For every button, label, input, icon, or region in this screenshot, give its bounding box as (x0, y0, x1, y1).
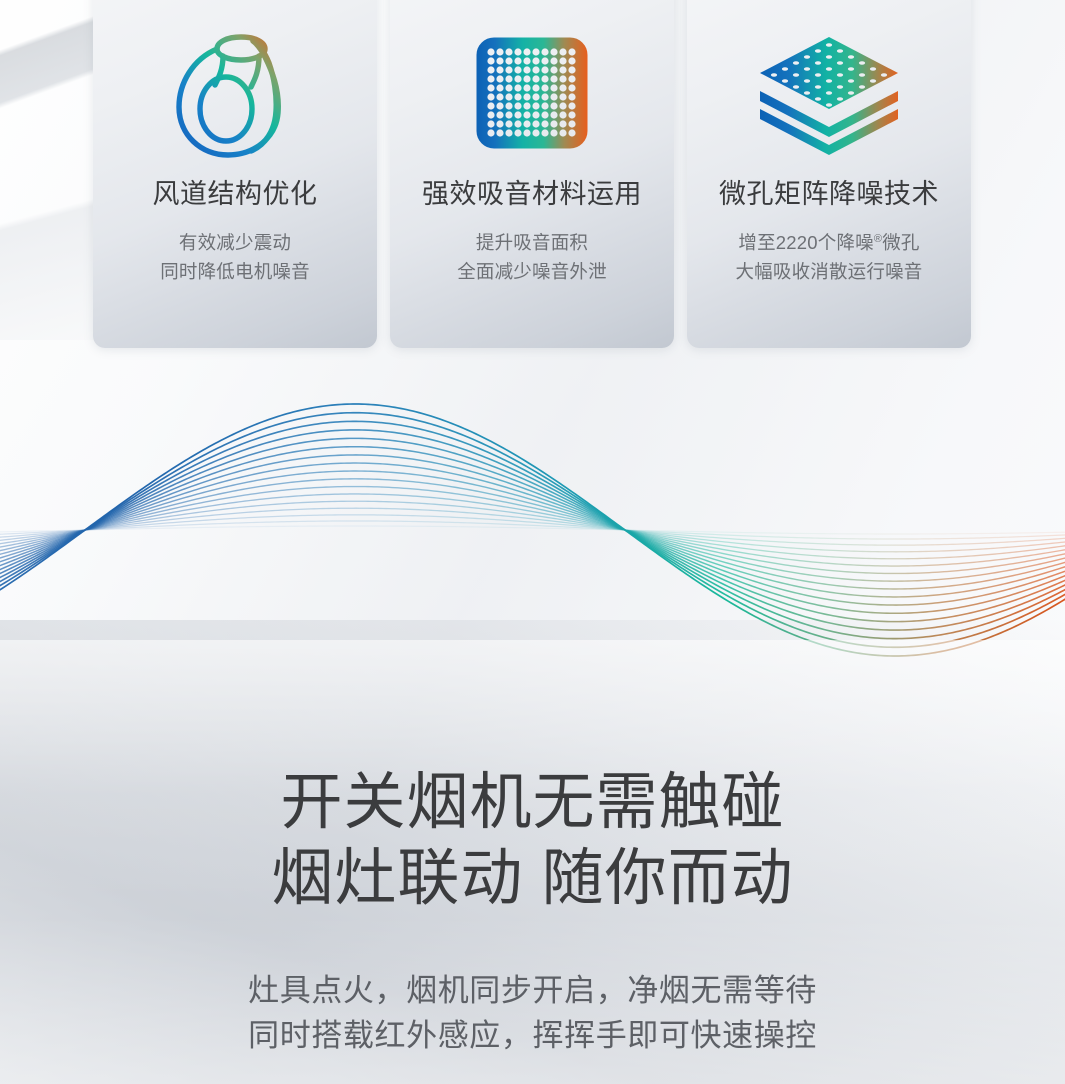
wave-line (0, 455, 1065, 605)
registered-trademark-icon: ® (874, 233, 882, 245)
card-subtitle-line-2: 大幅吸收消散运行噪音 (687, 257, 971, 286)
card-subtitle-line-2: 同时降低电机噪音 (93, 257, 377, 286)
sine-wave-graphic (0, 368, 1065, 658)
hero-headline-line-1: 开关烟机无需触碰 (0, 765, 1065, 841)
wave-line (0, 508, 1065, 552)
wave-line (0, 404, 1065, 656)
wave-line (0, 521, 1065, 539)
wave-line (0, 526, 1065, 534)
blower-volute-icon (93, 18, 377, 168)
feature-card-micro-hole-matrix[interactable]: 微孔矩阵降噪技术 增至2220个降噪®微孔 大幅吸收消散运行噪音 (687, 0, 971, 348)
perforated-panel-icon (390, 18, 674, 168)
card-title: 微孔矩阵降噪技术 (687, 178, 971, 210)
wave-line (0, 494, 1065, 566)
card-title: 风道结构优化 (93, 178, 377, 210)
card-subtitle: 有效减少震动 同时降低电机噪音 (93, 228, 377, 286)
wave-line (0, 413, 1065, 648)
feature-card-airduct[interactable]: 风道结构优化 有效减少震动 同时降低电机噪音 (93, 0, 377, 348)
hero-subtext-line-1: 灶具点火，烟机同步开启，净烟无需等待 (0, 968, 1065, 1013)
hero-subtext: 灶具点火，烟机同步开启，净烟无需等待 同时搭载红外感应，挥挥手即可快速操控 (0, 968, 1065, 1058)
card-subtitle: 增至2220个降噪®微孔 大幅吸收消散运行噪音 (687, 228, 971, 286)
wave-line (0, 430, 1065, 630)
hero-headline: 开关烟机无需触碰 烟灶联动 随你而动 (0, 765, 1065, 917)
card-subtitle-line-1: 提升吸音面积 (390, 228, 674, 257)
hero-subtext-line-2: 同时搭载红外感应，挥挥手即可快速操控 (0, 1013, 1065, 1058)
wave-line (0, 515, 1065, 545)
page-root: 风道结构优化 有效减少震动 同时降低电机噪音 (0, 0, 1065, 1084)
wave-line (0, 421, 1065, 638)
hero-headline-line-2: 烟灶联动 随你而动 (0, 841, 1065, 917)
wave-line (0, 487, 1065, 574)
wave-line (0, 471, 1065, 589)
card-subtitle-line-1-text: 增至2220个降噪 (738, 232, 873, 253)
layered-stack-icon (687, 18, 971, 168)
card-subtitle-line-2: 全面减少噪音外泄 (390, 257, 674, 286)
wave-line (0, 479, 1065, 581)
feature-card-row: 风道结构优化 有效减少震动 同时降低电机噪音 (93, 0, 973, 348)
wave-line (0, 501, 1065, 559)
card-subtitle: 提升吸音面积 全面减少噪音外泄 (390, 228, 674, 286)
card-subtitle-line-1-suffix: 微孔 (882, 232, 919, 253)
card-subtitle-line-1: 有效减少震动 (93, 228, 377, 257)
wave-line (0, 463, 1065, 597)
wave-line (0, 447, 1065, 614)
feature-card-sound-absorbing[interactable]: 强效吸音材料运用 提升吸音面积 全面减少噪音外泄 (390, 0, 674, 348)
wave-line (0, 438, 1065, 621)
card-subtitle-line-1: 增至2220个降噪®微孔 (687, 228, 971, 257)
card-title: 强效吸音材料运用 (390, 178, 674, 210)
